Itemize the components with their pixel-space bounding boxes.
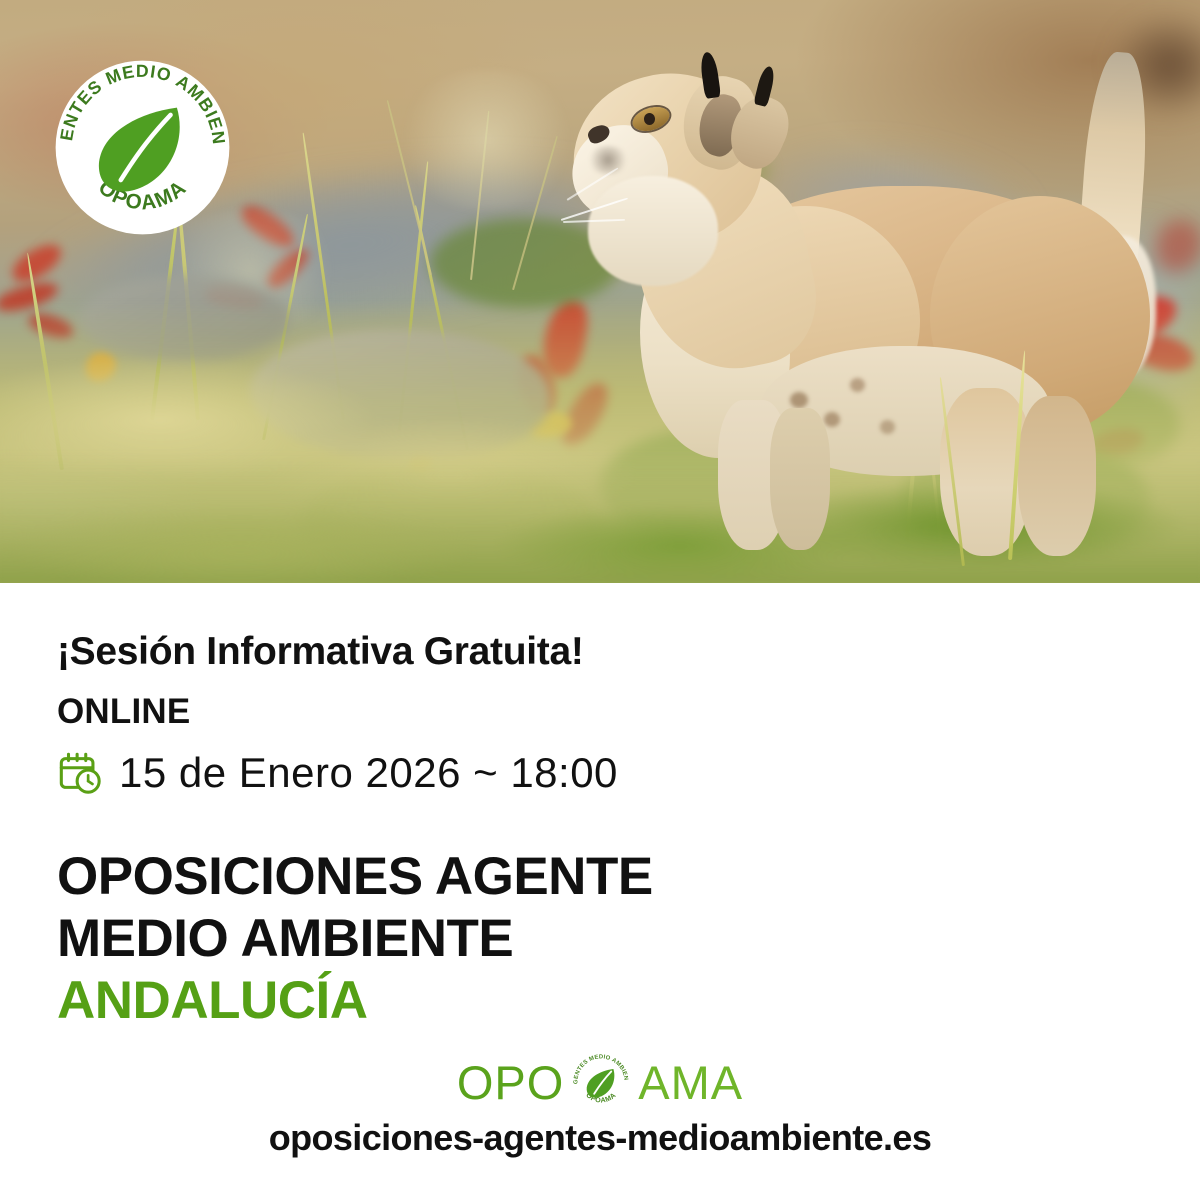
opoama-logo-badge: AGENTES MEDIO AMBIENTE OPOAMA bbox=[52, 57, 233, 238]
footer-logo-badge: AGENTES MEDIO AMBIENTE OPOAMA bbox=[570, 1051, 632, 1113]
lynx-eye-pupil bbox=[644, 113, 655, 125]
lynx-cheek-ruff bbox=[588, 176, 718, 286]
lynx-spot bbox=[790, 392, 808, 408]
event-date-text: 15 de Enero 2026 ~ 18:00 bbox=[119, 749, 618, 797]
footer: OPO AGENTES MEDIO AMBIENTE OPOAMA bbox=[0, 1053, 1200, 1159]
brand-wordmark: OPO AGENTES MEDIO AMBIENTE OPOAMA bbox=[0, 1053, 1200, 1111]
brand-suffix: AMA bbox=[638, 1059, 743, 1106]
lynx-whisker-pad bbox=[586, 146, 630, 174]
lynx-spot bbox=[850, 378, 865, 392]
lynx-spot bbox=[824, 412, 840, 427]
lynx-front-leg-rear bbox=[770, 408, 830, 550]
event-date-row: 15 de Enero 2026 ~ 18:00 bbox=[57, 749, 618, 797]
title-line-2: MEDIO AMBIENTE bbox=[57, 908, 653, 970]
content-panel: ¡Sesión Informativa Gratuita! ONLINE 15 … bbox=[0, 583, 1200, 1200]
lynx-spot bbox=[880, 420, 895, 434]
calendar-clock-icon bbox=[57, 750, 103, 796]
title-line-1: OPOSICIONES AGENTE bbox=[57, 846, 653, 908]
lynx-hind-leg-rear bbox=[1018, 396, 1096, 556]
modality-label: ONLINE bbox=[57, 692, 190, 732]
free-session-headline: ¡Sesión Informativa Gratuita! bbox=[57, 630, 584, 674]
website-url[interactable]: oposiciones-agentes-medioambiente.es bbox=[0, 1117, 1200, 1159]
poster-canvas: AGENTES MEDIO AMBIENTE OPOAMA ¡Sesión In… bbox=[0, 0, 1200, 1200]
brand-prefix: OPO bbox=[457, 1059, 564, 1106]
title-line-3-region: ANDALUCÍA bbox=[57, 970, 653, 1032]
hero-photo: AGENTES MEDIO AMBIENTE OPOAMA bbox=[0, 0, 1200, 583]
main-title: OPOSICIONES AGENTE MEDIO AMBIENTE ANDALU… bbox=[57, 846, 653, 1032]
